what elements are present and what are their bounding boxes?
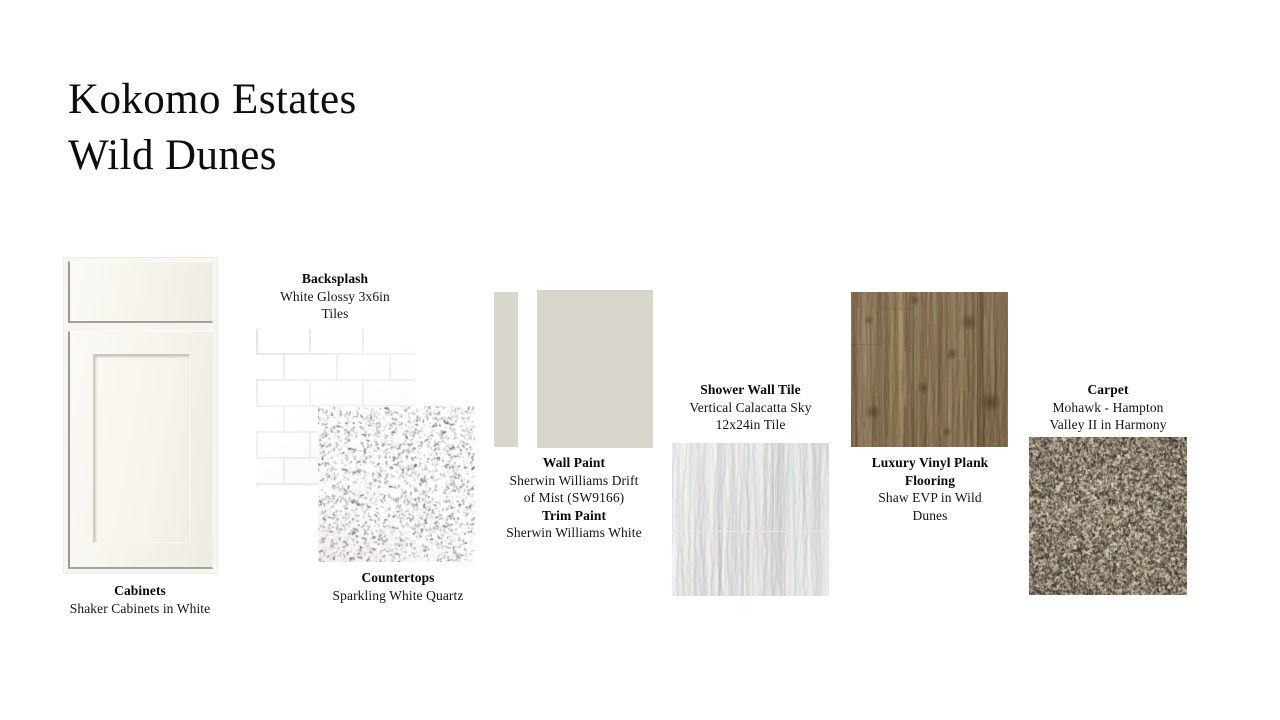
swatch-wall-paint[interactable] — [537, 290, 653, 448]
caption-backsplash: Backsplash White Glossy 3x6in Tiles — [248, 270, 422, 323]
subway-tile-joint — [309, 329, 311, 353]
cabinet-recessed-panel — [93, 354, 190, 543]
subway-tile-joint — [309, 381, 311, 405]
swatch-luxury-vinyl-plank-flooring[interactable] — [851, 292, 1008, 447]
subway-tile-joint — [256, 381, 258, 405]
swatch-cabinets[interactable] — [63, 257, 218, 574]
caption-title-countertops: Countertops — [305, 569, 491, 587]
caption-title-cabinets: Cabinets — [35, 582, 245, 600]
swatch-carpet[interactable] — [1029, 437, 1187, 595]
caption-subtitle-lvp: Shaw EVP in Wild Dunes — [845, 489, 1015, 524]
quartz-speckle-texture — [318, 406, 475, 562]
caption-title-lvp: Luxury Vinyl Plank Flooring — [845, 454, 1015, 489]
subway-tile-joint — [362, 381, 364, 405]
subway-tile-joint — [256, 433, 258, 457]
caption-luxury-vinyl-plank-flooring: Luxury Vinyl Plank Flooring Shaw EVP in … — [845, 454, 1015, 524]
caption-subtitle-countertops: Sparkling White Quartz — [305, 587, 491, 605]
caption-subtitle-shower-wall-tile: Vertical Calacatta Sky 12x24in Tile — [672, 399, 829, 434]
subway-tile-joint — [256, 485, 258, 486]
subway-tile-joint — [309, 485, 311, 486]
caption-title-shower-wall-tile: Shower Wall Tile — [672, 381, 829, 399]
caption-title-trim-paint: Trim Paint — [491, 507, 657, 525]
subway-tile-joint — [283, 355, 285, 379]
swatch-countertops[interactable] — [318, 406, 475, 562]
caption-countertops: Countertops Sparkling White Quartz — [305, 569, 491, 604]
caption-carpet: Carpet Mohawk - Hampton Valley II in Har… — [1026, 381, 1190, 434]
caption-title-carpet: Carpet — [1026, 381, 1190, 399]
wood-grain-texture — [851, 292, 1008, 447]
caption-shower-wall-tile: Shower Wall Tile Vertical Calacatta Sky … — [672, 381, 829, 434]
subway-tile-joint — [336, 355, 338, 379]
tile-grout-line-vertical — [774, 443, 775, 531]
subway-tile-row — [256, 329, 415, 355]
tile-grout-line-horizontal — [672, 531, 829, 532]
caption-title-wall-paint: Wall Paint — [491, 454, 657, 472]
subway-tile-row — [256, 355, 415, 381]
caption-subtitle-carpet: Mohawk - Hampton Valley II in Harmony — [1026, 399, 1190, 434]
subway-tile-joint — [309, 433, 311, 457]
caption-title-backsplash: Backsplash — [248, 270, 422, 288]
subway-tile-joint — [362, 329, 364, 353]
subway-tile-row — [256, 381, 415, 407]
subway-tile-joint — [256, 329, 258, 353]
subway-tile-joint — [283, 407, 285, 431]
caption-subtitle-trim-paint: Sherwin Williams White — [491, 524, 657, 542]
swatch-shower-wall-tile[interactable] — [672, 443, 829, 596]
page-title: Kokomo Estates Wild Dunes — [68, 72, 688, 184]
subway-tile-joint — [389, 355, 391, 379]
caption-subtitle-wall-paint: Sherwin Williams Drift of Mist (SW9166) — [491, 472, 657, 507]
caption-subtitle-backsplash: White Glossy 3x6in Tiles — [248, 288, 422, 323]
swatch-trim-paint[interactable] — [494, 292, 518, 447]
caption-subtitle-cabinets: Shaker Cabinets in White — [35, 600, 245, 618]
cabinet-door-front — [68, 331, 213, 569]
marble-vein-texture — [672, 443, 829, 596]
cabinet-drawer-front — [68, 261, 213, 323]
subway-tile-joint — [283, 459, 285, 483]
carpet-fiber-texture — [1029, 437, 1187, 595]
caption-paint: Wall Paint Sherwin Williams Drift of Mis… — [491, 454, 657, 542]
caption-cabinets: Cabinets Shaker Cabinets in White — [35, 582, 245, 617]
